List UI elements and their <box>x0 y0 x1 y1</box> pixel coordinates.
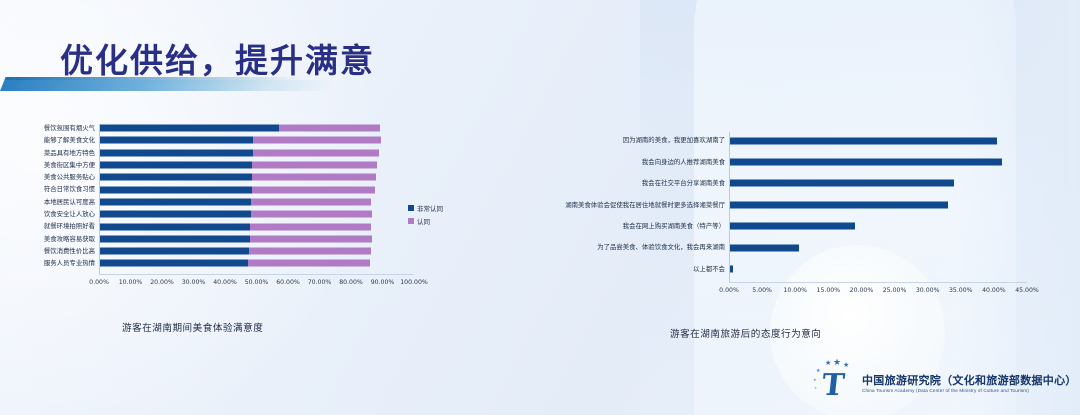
chart-bar-segment[interactable] <box>99 125 279 132</box>
chart-tick-label: 35.00% <box>949 287 973 294</box>
chart-category-label: 美食公共服务贴心 <box>26 174 99 180</box>
chart-bar-segment[interactable] <box>99 149 253 156</box>
chart-bar-row: 本地居民认可度高 <box>26 196 416 208</box>
chart-tick-label: 20.00% <box>850 287 874 294</box>
chart-bar-track <box>99 196 414 208</box>
legend-label: 认同 <box>417 216 430 226</box>
chart-tick-label: 15.00% <box>817 287 841 294</box>
chart-bar-segment[interactable] <box>250 235 373 242</box>
chart-tick-label: 10.00% <box>119 279 143 286</box>
chart-bar-track <box>99 171 414 183</box>
chart-tick-label: 80.00% <box>339 279 363 286</box>
chart-bar-row: 菜品具有地方特色 <box>26 147 416 159</box>
star-icon: ★ <box>816 369 820 374</box>
star-icon: ★ <box>813 378 817 382</box>
chart-bar-row: 就餐环境拍照好看 <box>26 220 416 232</box>
chart-left-legend: 非常认同认同 <box>408 203 443 229</box>
legend-item[interactable]: 认同 <box>408 216 443 226</box>
chart-tick-label: 60.00% <box>276 279 300 286</box>
chart-bar-segment[interactable] <box>248 260 370 267</box>
chart-bar-track <box>729 173 1027 194</box>
chart-bar-segment[interactable] <box>729 180 954 187</box>
chart-bar-row: 我会向身边的人推荐湖南美食 <box>470 151 1030 172</box>
chart-bar-segment[interactable] <box>99 248 249 255</box>
chart-bar-track <box>99 233 414 245</box>
chart-bar-segment[interactable] <box>729 201 948 208</box>
chart-category-label: 能够了解美食文化 <box>26 137 99 143</box>
chart-category-label: 饮食安全让人放心 <box>26 211 99 217</box>
chart-bar-row: 我会在网上购买湖南美食（特产等） <box>470 216 1030 237</box>
chart-bar-track <box>99 159 414 171</box>
chart-left-satisfaction: 餐饮氛围有烟火气能够了解美食文化菜品具有地方特色美食街区集中方便美食公共服务贴心… <box>26 122 416 347</box>
chart-tick-label: 0.00% <box>719 287 739 294</box>
chart-bar-segment[interactable] <box>729 159 1002 166</box>
chart-tick-label: 90.00% <box>371 279 395 286</box>
chart-right-caption: 游客在湖南旅游后的态度行为意向 <box>670 326 821 340</box>
chart-bar-track <box>99 134 414 146</box>
organization-logo: ★ ★ ★ ★ ★ ★ T 中国旅游研究院（文化和旅游部数据中心） China … <box>812 362 1077 406</box>
chart-category-label: 本地居民认可度高 <box>26 199 99 205</box>
chart-bar-row: 美食街区集中方便 <box>26 159 416 171</box>
chart-bar-segment[interactable] <box>252 174 376 181</box>
logo-mark-icon: ★ ★ ★ ★ ★ ★ T <box>812 362 858 406</box>
chart-tick-label: 25.00% <box>883 287 907 294</box>
chart-left-plot-area: 餐饮氛围有烟火气能够了解美食文化菜品具有地方特色美食街区集中方便美食公共服务贴心… <box>26 122 416 272</box>
chart-bar-track <box>99 147 414 159</box>
page-title: 优化供给，提升满意 <box>60 34 375 82</box>
chart-bar-segment[interactable] <box>99 260 248 267</box>
chart-bar-track <box>729 237 1027 258</box>
chart-right-intentions: 因为湖南的美食，我更加喜欢湖南了我会向身边的人推荐湖南美食我会在社交平台分享湖南… <box>470 130 1030 350</box>
chart-bar-segment[interactable] <box>99 162 252 169</box>
chart-bar-track <box>729 258 1027 279</box>
title-block: 优化供给，提升满意 <box>0 34 520 90</box>
chart-tick-label: 30.00% <box>182 279 206 286</box>
chart-bar-row: 我会在社交平台分享湖南美食 <box>470 173 1030 194</box>
legend-label: 非常认同 <box>417 203 443 213</box>
chart-bar-segment[interactable] <box>729 137 997 144</box>
chart-bar-row: 以上都不会 <box>470 258 1030 279</box>
chart-bar-row: 因为湖南的美食，我更加喜欢湖南了 <box>470 130 1030 151</box>
chart-bar-track <box>729 216 1027 237</box>
chart-category-label: 餐饮消费性价比高 <box>26 248 99 254</box>
chart-left-axis-line <box>99 274 414 275</box>
chart-bar-segment[interactable] <box>251 211 373 218</box>
chart-left-caption: 游客在湖南期间美食体验满意度 <box>122 320 263 334</box>
chart-bar-segment[interactable] <box>253 137 382 144</box>
chart-tick-label: 100.00% <box>400 279 428 286</box>
chart-bar-track <box>99 257 414 269</box>
chart-bar-segment[interactable] <box>253 149 380 156</box>
chart-category-label: 因为湖南的美食，我更加喜欢湖南了 <box>470 137 729 143</box>
logo-letter-t-icon: T <box>820 371 845 401</box>
chart-bar-row: 服务人员专业热情 <box>26 257 416 269</box>
chart-bar-row: 饮食安全让人放心 <box>26 208 416 220</box>
chart-bar-segment[interactable] <box>729 244 799 251</box>
chart-bar-track <box>99 122 414 134</box>
chart-bar-row: 餐饮氛围有烟火气 <box>26 122 416 134</box>
chart-tick-label: 40.00% <box>982 287 1006 294</box>
chart-left-value-axis <box>99 124 100 274</box>
chart-category-label: 湖南美食体验会促使我在居住地就餐时更多选择湘菜餐厅 <box>470 202 729 208</box>
chart-bar-track <box>729 194 1027 215</box>
chart-bar-segment[interactable] <box>99 198 251 205</box>
chart-category-label: 我会向身边的人推荐湖南美食 <box>470 159 729 165</box>
chart-bar-track <box>99 208 414 220</box>
chart-bar-segment[interactable] <box>99 174 252 181</box>
chart-bar-segment[interactable] <box>252 186 375 193</box>
chart-bar-segment[interactable] <box>250 223 371 230</box>
chart-category-label: 我会在网上购买湖南美食（特产等） <box>470 223 729 229</box>
chart-tick-label: 20.00% <box>150 279 174 286</box>
chart-right-plot-area: 因为湖南的美食，我更加喜欢湖南了我会向身边的人推荐湖南美食我会在社交平台分享湖南… <box>470 130 1030 280</box>
chart-bar-segment[interactable] <box>729 223 855 230</box>
chart-tick-label: 45.00% <box>1015 287 1039 294</box>
chart-right-tick-labels: 0.00%5.00%10.00%15.00%20.00%25.00%30.00%… <box>470 287 1030 299</box>
chart-category-label: 餐饮氛围有烟火气 <box>26 125 99 131</box>
chart-bar-track <box>729 130 1027 151</box>
chart-tick-label: 30.00% <box>916 287 940 294</box>
chart-bar-track <box>99 220 414 232</box>
legend-item[interactable]: 非常认同 <box>408 203 443 213</box>
chart-tick-label: 10.00% <box>783 287 807 294</box>
chart-bar-row: 餐饮消费性价比高 <box>26 245 416 257</box>
legend-swatch-icon <box>408 218 414 224</box>
chart-bar-segment[interactable] <box>252 162 377 169</box>
chart-bar-segment[interactable] <box>251 198 370 205</box>
chart-bar-segment[interactable] <box>99 137 253 144</box>
chart-bar-segment[interactable] <box>279 125 380 132</box>
chart-tick-label: 0.00% <box>89 279 109 286</box>
chart-bar-row: 湖南美食体验会促使我在居住地就餐时更多选择湘菜餐厅 <box>470 194 1030 215</box>
chart-tick-label: 40.00% <box>213 279 237 286</box>
chart-bar-segment[interactable] <box>99 211 251 218</box>
chart-tick-label: 5.00% <box>752 287 772 294</box>
chart-bar-row: 美食公共服务贴心 <box>26 171 416 183</box>
chart-category-label: 美食街区集中方便 <box>26 162 99 168</box>
chart-bar-row: 符合日常饮食习惯 <box>26 183 416 195</box>
chart-bar-segment[interactable] <box>99 186 252 193</box>
chart-category-label: 就餐环境拍照好看 <box>26 223 99 229</box>
star-icon: ★ <box>825 360 831 367</box>
chart-category-label: 我会在社交平台分享湖南美食 <box>470 180 729 186</box>
chart-bar-track <box>99 245 414 257</box>
chart-category-label: 菜品具有地方特色 <box>26 150 99 156</box>
chart-tick-label: 50.00% <box>245 279 269 286</box>
logo-name-en: China Tourism Academy (Data Center of th… <box>862 388 1077 394</box>
chart-bar-track <box>729 151 1027 172</box>
chart-right-axis-line <box>729 282 1027 283</box>
chart-bar-row: 为了品尝美食、体验饮食文化，我会再来湖南 <box>470 237 1030 258</box>
chart-category-label: 美食攻略容易获取 <box>26 236 99 242</box>
chart-category-label: 以上都不会 <box>470 266 729 272</box>
chart-bar-segment[interactable] <box>99 223 250 230</box>
chart-bar-segment[interactable] <box>99 235 250 242</box>
chart-bar-segment[interactable] <box>249 248 371 255</box>
chart-right-value-axis <box>729 132 730 282</box>
chart-tick-label: 70.00% <box>308 279 332 286</box>
chart-bar-track <box>99 183 414 195</box>
chart-category-label: 服务人员专业热情 <box>26 260 99 266</box>
chart-category-label: 为了品尝美食、体验饮食文化，我会再来湖南 <box>470 244 729 250</box>
chart-bar-row: 美食攻略容易获取 <box>26 233 416 245</box>
chart-bar-row: 能够了解美食文化 <box>26 134 416 146</box>
star-icon: ★ <box>814 387 817 391</box>
legend-swatch-icon <box>408 205 414 211</box>
star-icon: ★ <box>833 358 841 367</box>
logo-name-cn: 中国旅游研究院（文化和旅游部数据中心） <box>862 374 1077 387</box>
chart-left-tick-labels: 0.00%10.00%20.00%30.00%40.00%50.00%60.00… <box>26 279 416 291</box>
chart-category-label: 符合日常饮食习惯 <box>26 186 99 192</box>
logo-text-block: 中国旅游研究院（文化和旅游部数据中心） China Tourism Academ… <box>862 374 1077 394</box>
